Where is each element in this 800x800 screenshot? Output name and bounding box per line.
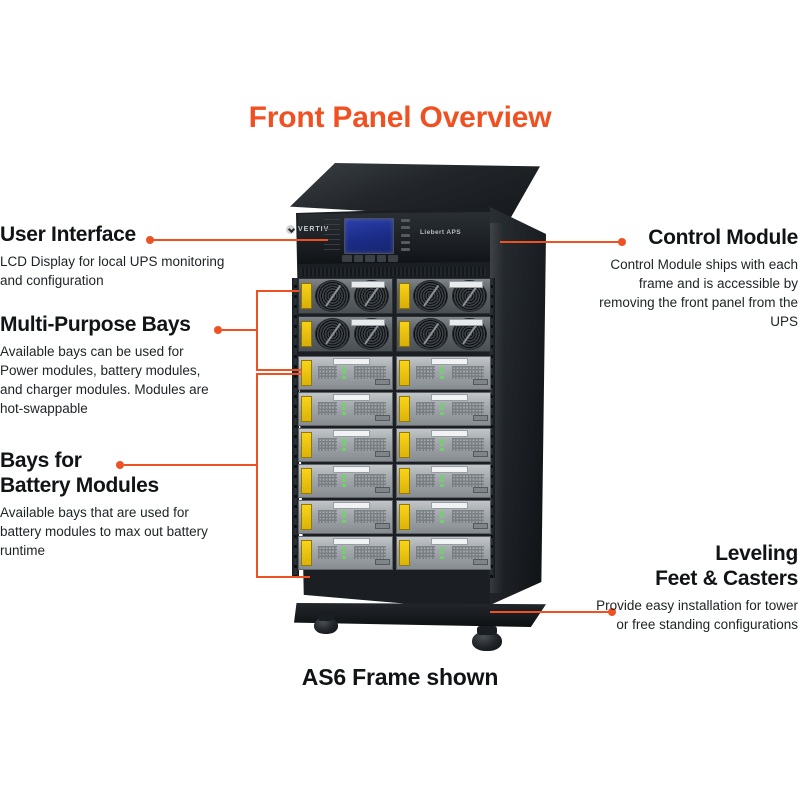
battery-module[interactable] bbox=[396, 464, 491, 498]
fan-icon bbox=[413, 318, 448, 350]
annotation-body: Control Module ships with each frame and… bbox=[583, 255, 798, 331]
battery-module[interactable] bbox=[298, 464, 393, 498]
power-module[interactable] bbox=[396, 316, 491, 352]
lcd-display[interactable] bbox=[344, 218, 394, 254]
module-handle[interactable] bbox=[399, 540, 410, 565]
status-led bbox=[401, 241, 410, 244]
module-bay-grid bbox=[298, 278, 491, 578]
panel-vent-grille bbox=[300, 267, 486, 276]
battery-module[interactable] bbox=[298, 356, 393, 390]
module-handle[interactable] bbox=[301, 468, 312, 493]
annotation-heading-line2: Battery Modules bbox=[0, 473, 260, 498]
module-handle[interactable] bbox=[301, 396, 312, 421]
page-title: Front Panel Overview bbox=[0, 101, 800, 135]
battery-module-row bbox=[298, 392, 491, 426]
module-label bbox=[351, 319, 385, 326]
fan-icon bbox=[315, 318, 350, 350]
annotation-heading: Control Module bbox=[583, 225, 798, 250]
lcd-key[interactable] bbox=[377, 255, 387, 262]
module-handle[interactable] bbox=[301, 321, 312, 347]
module-handle[interactable] bbox=[301, 360, 312, 385]
module-label bbox=[431, 466, 468, 473]
module-handle[interactable] bbox=[301, 283, 312, 309]
annotation-control-module: Control Module Control Module ships with… bbox=[583, 225, 798, 331]
battery-module[interactable] bbox=[298, 392, 393, 426]
battery-module[interactable] bbox=[298, 428, 393, 462]
ups-cabinet-illustration: VERTIV Liebert APS bbox=[268, 163, 568, 623]
module-label bbox=[431, 394, 468, 401]
module-handle[interactable] bbox=[399, 283, 410, 309]
model-badge: Liebert APS bbox=[420, 229, 461, 236]
lcd-key[interactable] bbox=[365, 255, 375, 262]
power-module[interactable] bbox=[396, 278, 491, 314]
module-label bbox=[333, 430, 370, 437]
module-handle[interactable] bbox=[399, 468, 410, 493]
module-label bbox=[431, 430, 468, 437]
battery-module-row bbox=[298, 356, 491, 390]
diagram-canvas: Front Panel Overview VERTIV Lieb bbox=[0, 0, 800, 800]
module-handle[interactable] bbox=[399, 396, 410, 421]
battery-module-row bbox=[298, 428, 491, 462]
power-module-row bbox=[298, 278, 491, 314]
annotation-body: LCD Display for local UPS monitoring and… bbox=[0, 252, 248, 290]
module-handle[interactable] bbox=[399, 321, 410, 347]
annotation-body: Provide easy installation for tower or f… bbox=[583, 596, 798, 634]
status-led-column bbox=[401, 219, 410, 251]
status-led bbox=[401, 248, 410, 251]
annotation-heading-line1: Leveling bbox=[583, 541, 798, 566]
module-handle[interactable] bbox=[399, 360, 410, 385]
module-label bbox=[449, 319, 483, 326]
vertiv-mark-icon bbox=[286, 225, 295, 234]
module-label bbox=[333, 466, 370, 473]
fan-icon bbox=[315, 280, 350, 312]
leveling-foot bbox=[314, 617, 338, 634]
battery-module[interactable] bbox=[298, 500, 393, 534]
module-label bbox=[333, 358, 370, 365]
panel-legend-strip bbox=[324, 219, 340, 251]
power-module-row bbox=[298, 316, 491, 352]
annotation-heading-line1: Bays for bbox=[0, 448, 260, 473]
leader-bracket-arm-bottom bbox=[256, 576, 310, 578]
status-led bbox=[401, 226, 410, 229]
module-label bbox=[431, 358, 468, 365]
battery-module[interactable] bbox=[298, 536, 393, 570]
annotation-leveling-feet: Leveling Feet & Casters Provide easy ins… bbox=[583, 541, 798, 634]
module-handle[interactable] bbox=[399, 504, 410, 529]
annotation-heading: Multi-Purpose Bays bbox=[0, 312, 260, 337]
module-label bbox=[449, 281, 483, 288]
leader-bracket-arm-top bbox=[256, 290, 299, 292]
module-label bbox=[333, 538, 370, 545]
leader-bracket-arm-top bbox=[256, 373, 302, 375]
module-handle[interactable] bbox=[301, 504, 312, 529]
annotation-multi-purpose-bays: Multi-Purpose Bays Available bays can be… bbox=[0, 312, 260, 418]
battery-module[interactable] bbox=[396, 428, 491, 462]
power-module[interactable] bbox=[298, 278, 393, 314]
module-label bbox=[431, 502, 468, 509]
module-label bbox=[333, 394, 370, 401]
status-led bbox=[401, 219, 410, 222]
lcd-keypad[interactable] bbox=[342, 255, 398, 262]
battery-module-row bbox=[298, 500, 491, 534]
annotation-battery-bays: Bays for Battery Modules Available bays … bbox=[0, 448, 260, 560]
annotation-heading: User Interface bbox=[0, 222, 260, 247]
module-label bbox=[333, 502, 370, 509]
module-label bbox=[351, 281, 385, 288]
battery-module[interactable] bbox=[396, 536, 491, 570]
figure-caption: AS6 Frame shown bbox=[0, 664, 800, 691]
annotation-user-interface: User Interface LCD Display for local UPS… bbox=[0, 222, 260, 290]
lcd-key[interactable] bbox=[354, 255, 364, 262]
fan-icon bbox=[413, 280, 448, 312]
module-handle[interactable] bbox=[301, 432, 312, 457]
battery-module-row bbox=[298, 464, 491, 498]
vertiv-logo: VERTIV bbox=[286, 225, 329, 234]
battery-module[interactable] bbox=[396, 500, 491, 534]
lcd-key[interactable] bbox=[342, 255, 352, 262]
annotation-body: Available bays can be used for Power mod… bbox=[0, 342, 215, 418]
lcd-key[interactable] bbox=[388, 255, 398, 262]
module-label bbox=[431, 538, 468, 545]
leader-bracket-arm-bottom bbox=[256, 369, 302, 371]
leveling-foot bbox=[472, 631, 502, 651]
battery-module[interactable] bbox=[396, 392, 491, 426]
battery-module[interactable] bbox=[396, 356, 491, 390]
annotation-body: Available bays that are used for battery… bbox=[0, 503, 208, 560]
status-led bbox=[401, 234, 410, 237]
module-handle[interactable] bbox=[301, 540, 312, 565]
battery-module-row bbox=[298, 536, 491, 570]
power-module[interactable] bbox=[298, 316, 393, 352]
annotation-heading-line2: Feet & Casters bbox=[583, 566, 798, 591]
module-handle[interactable] bbox=[399, 432, 410, 457]
